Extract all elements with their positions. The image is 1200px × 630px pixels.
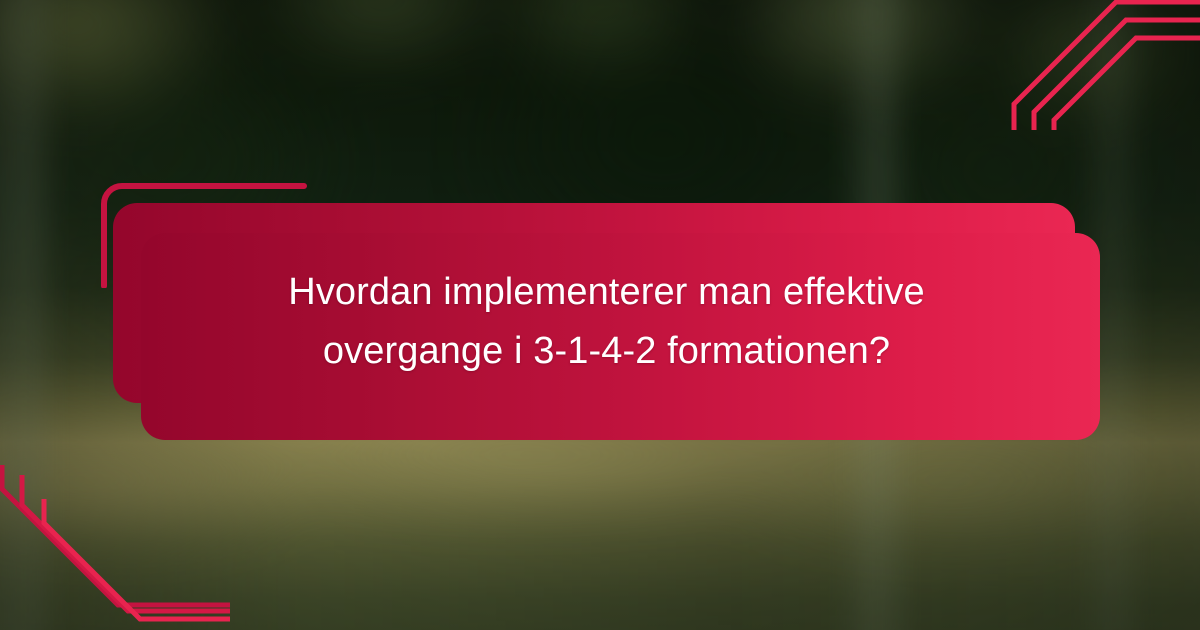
headline-card-group: Hvordan implementerer man effektive over… [0,0,1200,630]
headline-line-2: overgange i 3-1-4-2 formationen? [323,322,890,381]
headline-card: Hvordan implementerer man effektive over… [113,203,1100,440]
headline-line-1: Hvordan implementerer man effektive [288,263,924,322]
og-image-canvas: Hvordan implementerer man effektive over… [0,0,1200,630]
headline-text-block: Hvordan implementerer man effektive over… [113,203,1100,440]
